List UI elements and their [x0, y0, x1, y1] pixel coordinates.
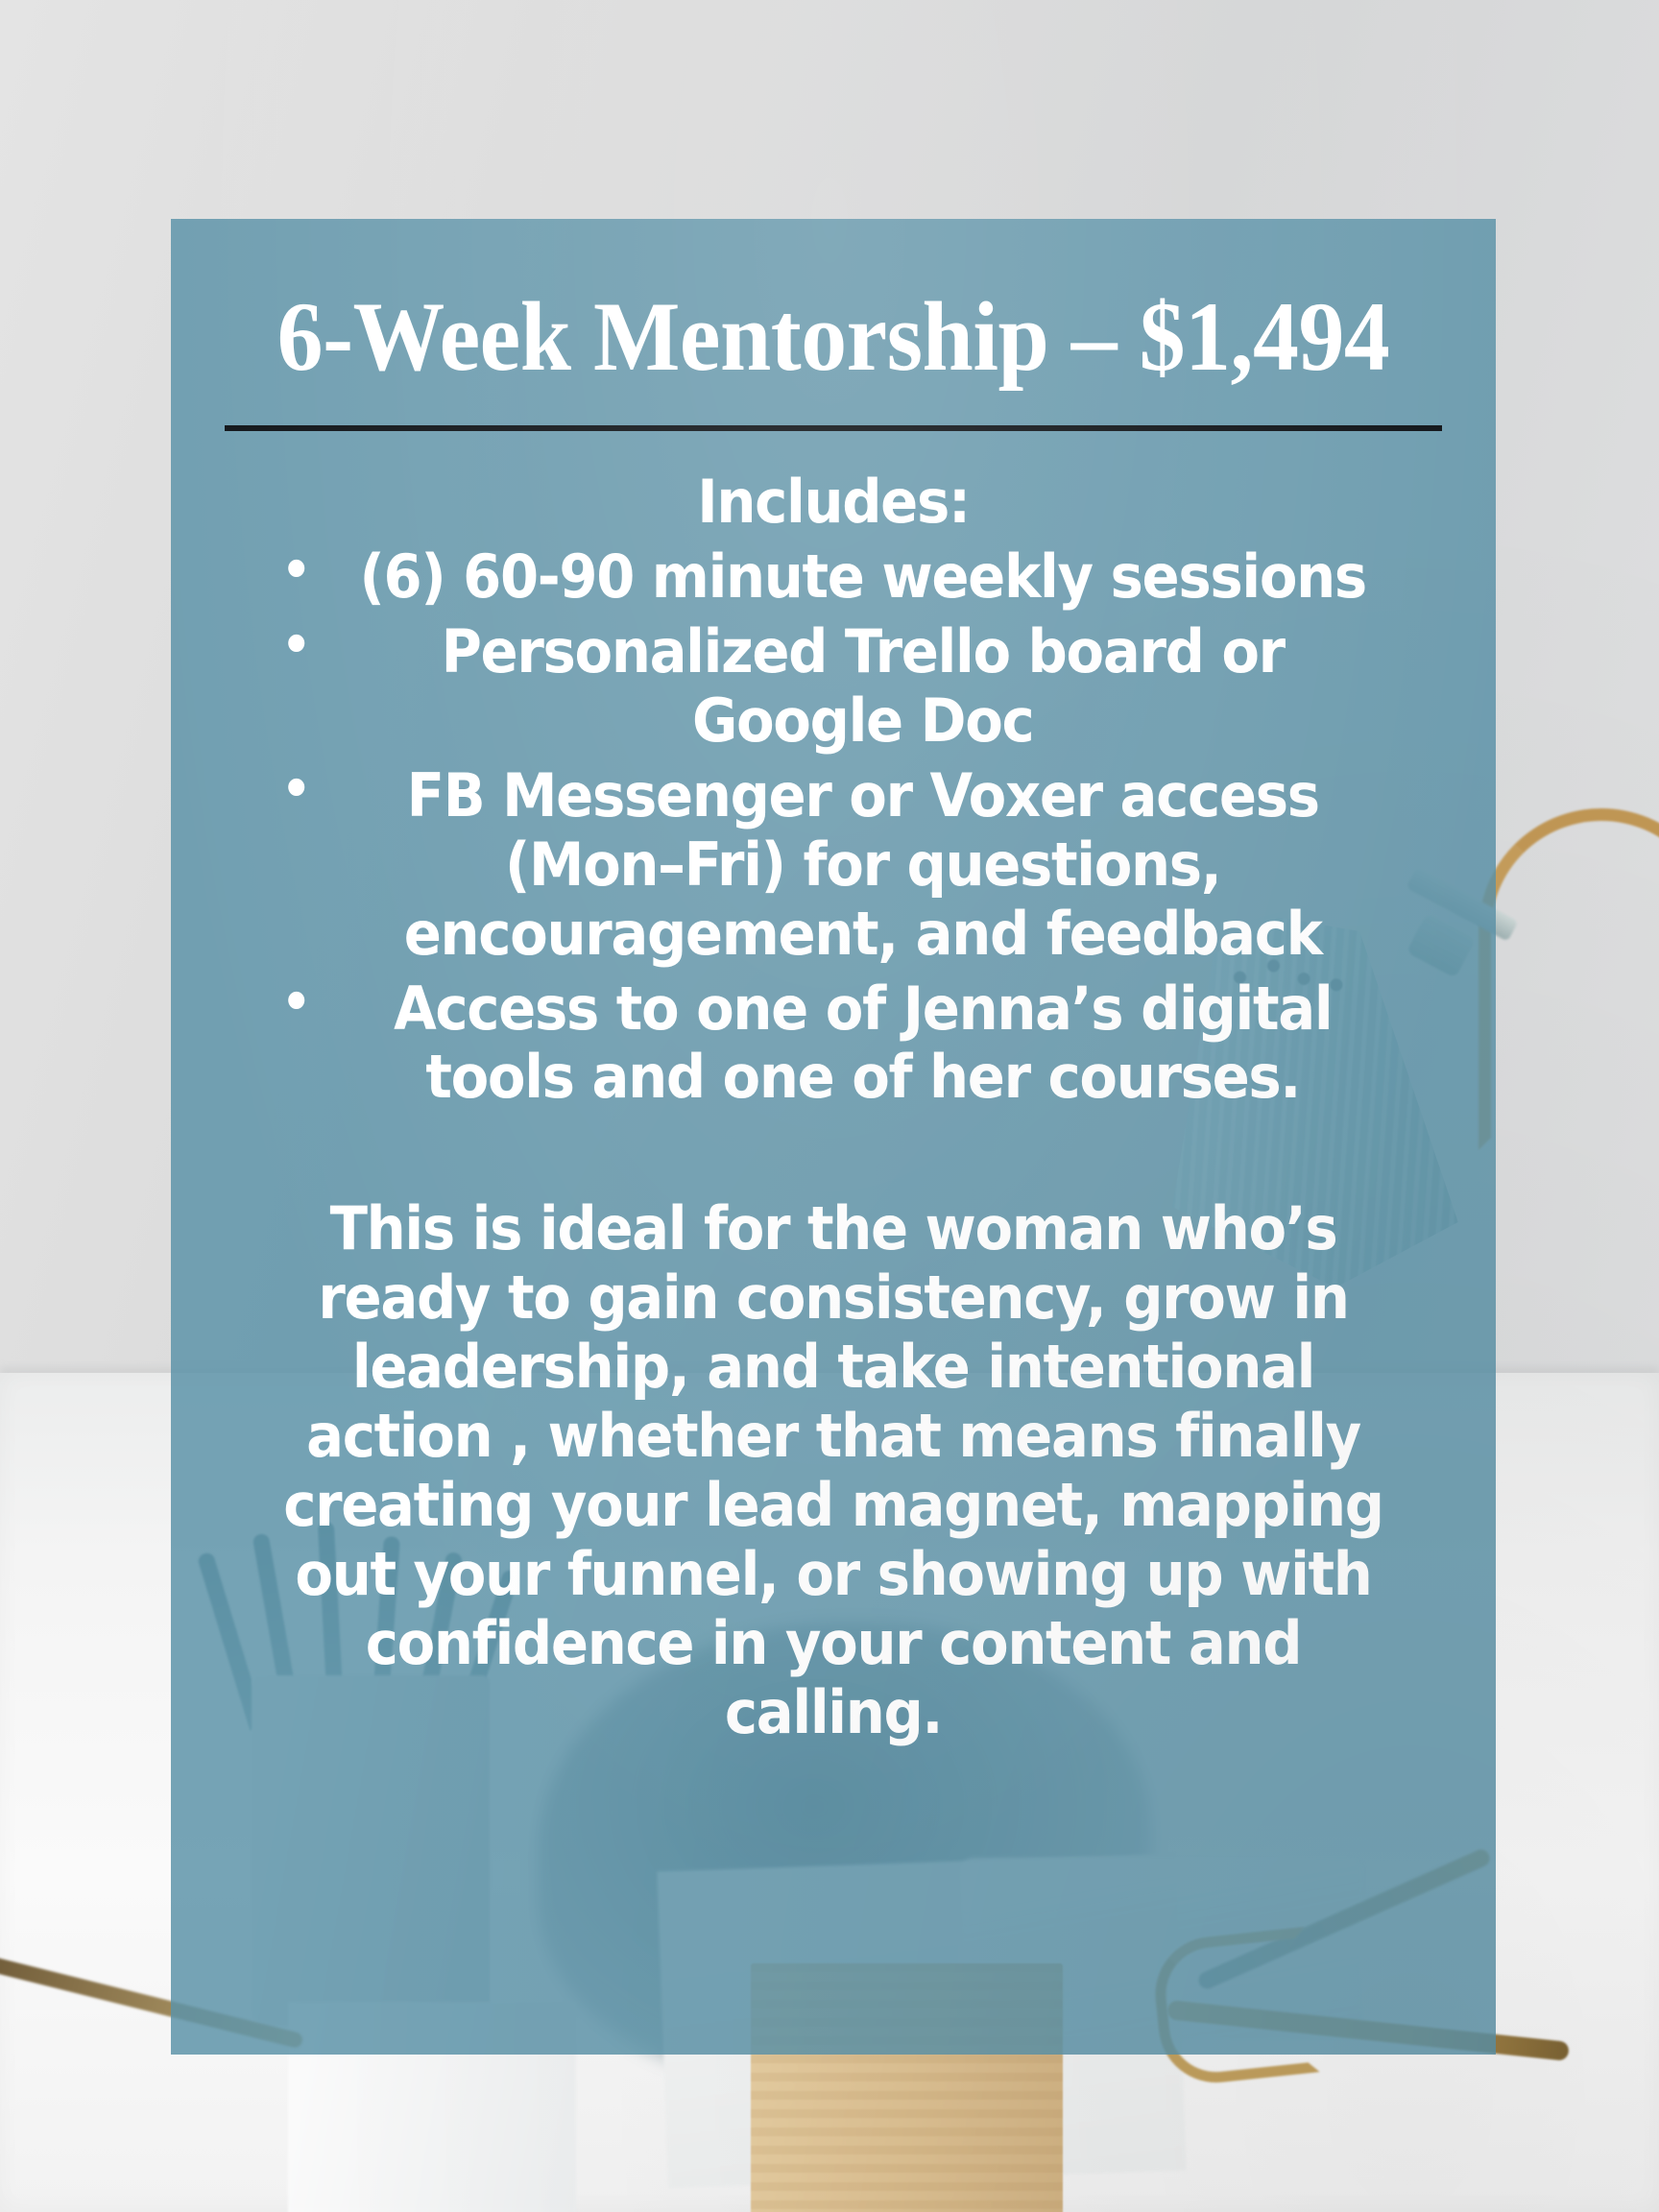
includes-label: Includes: — [256, 468, 1410, 537]
title-divider — [225, 425, 1442, 431]
description-paragraph: This is ideal for the woman who’s ready … — [262, 1194, 1405, 1746]
list-item: (6) 60-90 minute weekly sessions — [256, 542, 1410, 612]
brass-lamp-arm — [1479, 808, 1659, 1150]
list-item: Personalized Trello board or Google Doc — [256, 617, 1410, 756]
page-title: 6-Week Mentorship – $1,494 — [256, 219, 1410, 391]
list-item: FB Messenger or Voxer access (Mon–Fri) f… — [256, 761, 1410, 969]
poster-canvas: 6-Week Mentorship – $1,494 Includes: (6)… — [0, 0, 1659, 2212]
includes-list: (6) 60-90 minute weekly sessions Persona… — [256, 542, 1410, 1112]
offer-card: 6-Week Mentorship – $1,494 Includes: (6)… — [171, 219, 1496, 2055]
card-body: Includes: (6) 60-90 minute weekly sessio… — [256, 468, 1410, 1746]
list-item: Access to one of Jenna’s digital tools a… — [256, 974, 1410, 1113]
